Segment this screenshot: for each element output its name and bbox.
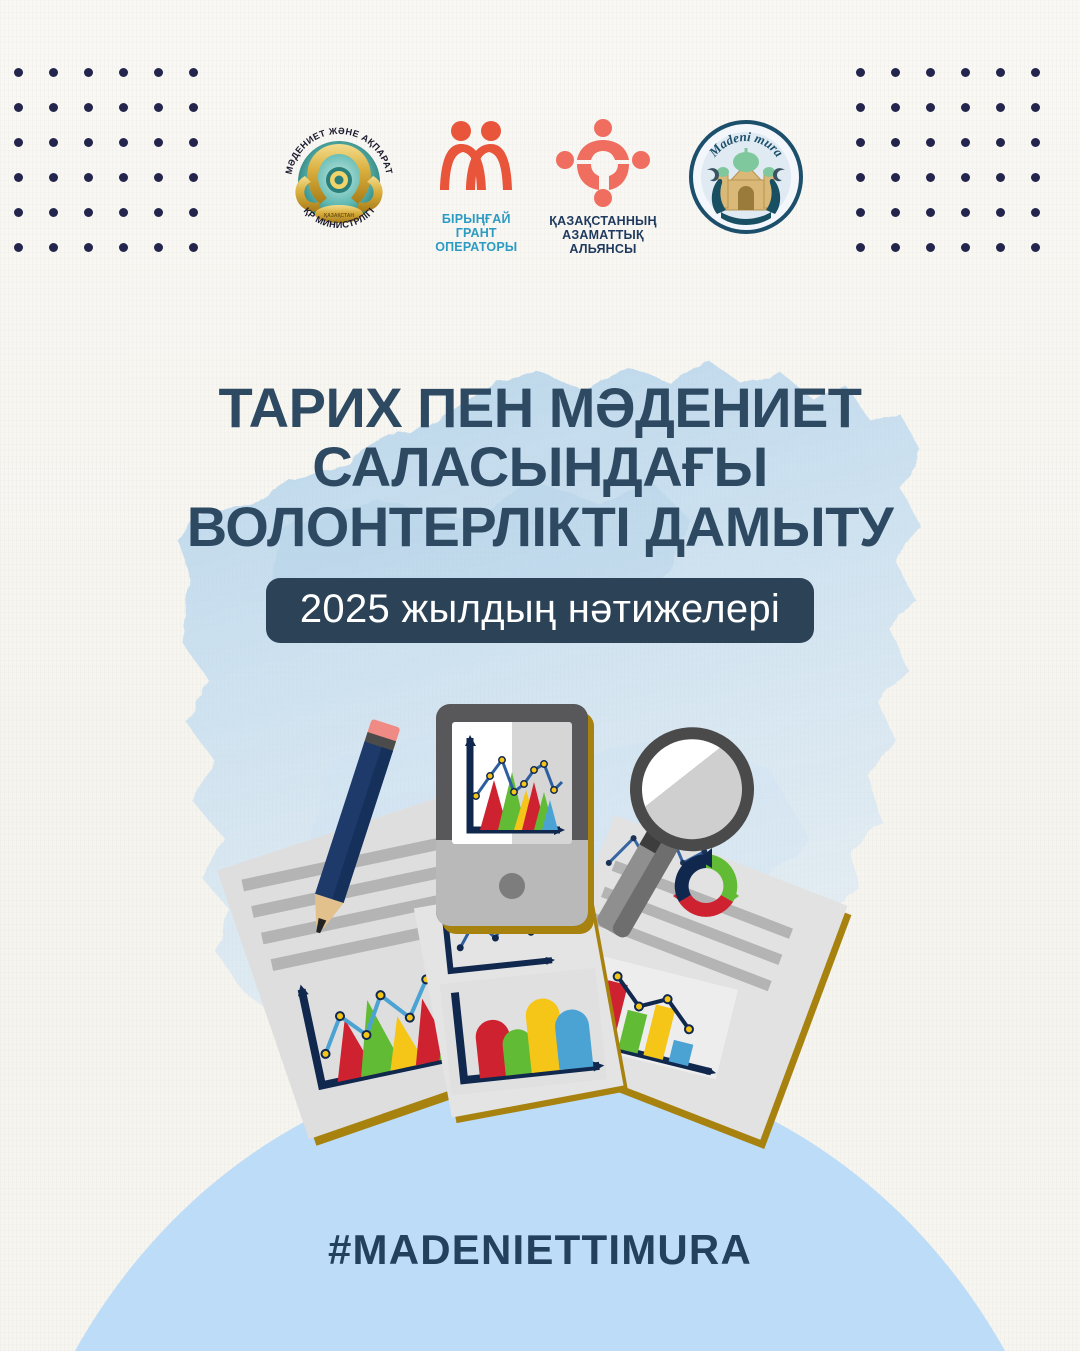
- decorative-dot: [891, 68, 900, 77]
- decorative-dot: [1031, 103, 1040, 112]
- decorative-dot: [154, 103, 163, 112]
- ministry-emblem-icon: ҚАЗАҚСТАН МӘДЕНИЕТ ЖӘНЕ АҚПАРАТ ҚР МИНИС…: [275, 118, 403, 246]
- tablet-device: [436, 704, 594, 934]
- hashtag-footer: #MADENIETTIMURA: [0, 1226, 1080, 1274]
- madeni-mura-icon: Madeni mura: [687, 118, 805, 236]
- decorative-dot: [14, 103, 23, 112]
- partner-logos-row: ҚАЗАҚСТАН МӘДЕНИЕТ ЖӘНЕ АҚПАРАТ ҚР МИНИС…: [0, 118, 1080, 263]
- decorative-dot: [189, 103, 198, 112]
- decorative-dot: [1031, 68, 1040, 77]
- decorative-dot: [996, 68, 1005, 77]
- decorative-dot: [926, 68, 935, 77]
- decorative-dot: [119, 68, 128, 77]
- civil-alliance-circle-icon: [555, 118, 651, 210]
- decorative-dot: [154, 68, 163, 77]
- poster-canvas: ҚАЗАҚСТАН МӘДЕНИЕТ ЖӘНЕ АҚПАРАТ ҚР МИНИС…: [0, 0, 1080, 1351]
- decorative-dot: [996, 103, 1005, 112]
- decorative-dot: [891, 103, 900, 112]
- svg-text:ҚАЗАҚСТАН: ҚАЗАҚСТАН: [324, 213, 354, 219]
- page-title-line-1: ТАРИХ ПЕН МӘДЕНИЕТ: [0, 378, 1080, 437]
- decorative-dot: [49, 68, 58, 77]
- logo-madeni-mura: Madeni mura: [687, 118, 805, 236]
- page-title-line-2: САЛАСЫНДАҒЫ: [0, 437, 1080, 496]
- decorative-dot: [961, 103, 970, 112]
- page-title-line-3: ВОЛОНТЕРЛІКТІ ДАМЫТУ: [0, 497, 1080, 556]
- title-block: ТАРИХ ПЕН МӘДЕНИЕТ САЛАСЫНДАҒЫ ВОЛОНТЕРЛ…: [0, 378, 1080, 643]
- decorative-dot: [49, 103, 58, 112]
- logo-civil-alliance: ҚАЗАҚСТАННЫҢ АЗАМАТТЫҚ АЛЬЯНСЫ: [549, 118, 656, 256]
- decorative-dot: [961, 68, 970, 77]
- decorative-dot: [119, 103, 128, 112]
- decorative-dot: [856, 68, 865, 77]
- logo-grant-operator: БІРЫҢҒАЙ ГРАНТ ОПЕРАТОРЫ: [433, 118, 519, 254]
- decorative-dot: [856, 103, 865, 112]
- decorative-dot: [189, 68, 198, 77]
- civil-alliance-caption: ҚАЗАҚСТАННЫҢ АЗАМАТТЫҚ АЛЬЯНСЫ: [549, 214, 656, 256]
- decorative-dot: [84, 68, 93, 77]
- subtitle-badge: 2025 жылдың нәтижелері: [266, 578, 814, 643]
- grant-operator-people-icon: [433, 118, 519, 208]
- decorative-dot: [14, 68, 23, 77]
- decorative-dot: [84, 103, 93, 112]
- data-analytics-illustration: [200, 690, 890, 1200]
- logo-ministry-of-culture: ҚАЗАҚСТАН МӘДЕНИЕТ ЖӘНЕ АҚПАРАТ ҚР МИНИС…: [275, 118, 403, 246]
- decorative-dot: [926, 103, 935, 112]
- grant-operator-caption: БІРЫҢҒАЙ ГРАНТ ОПЕРАТОРЫ: [435, 212, 517, 254]
